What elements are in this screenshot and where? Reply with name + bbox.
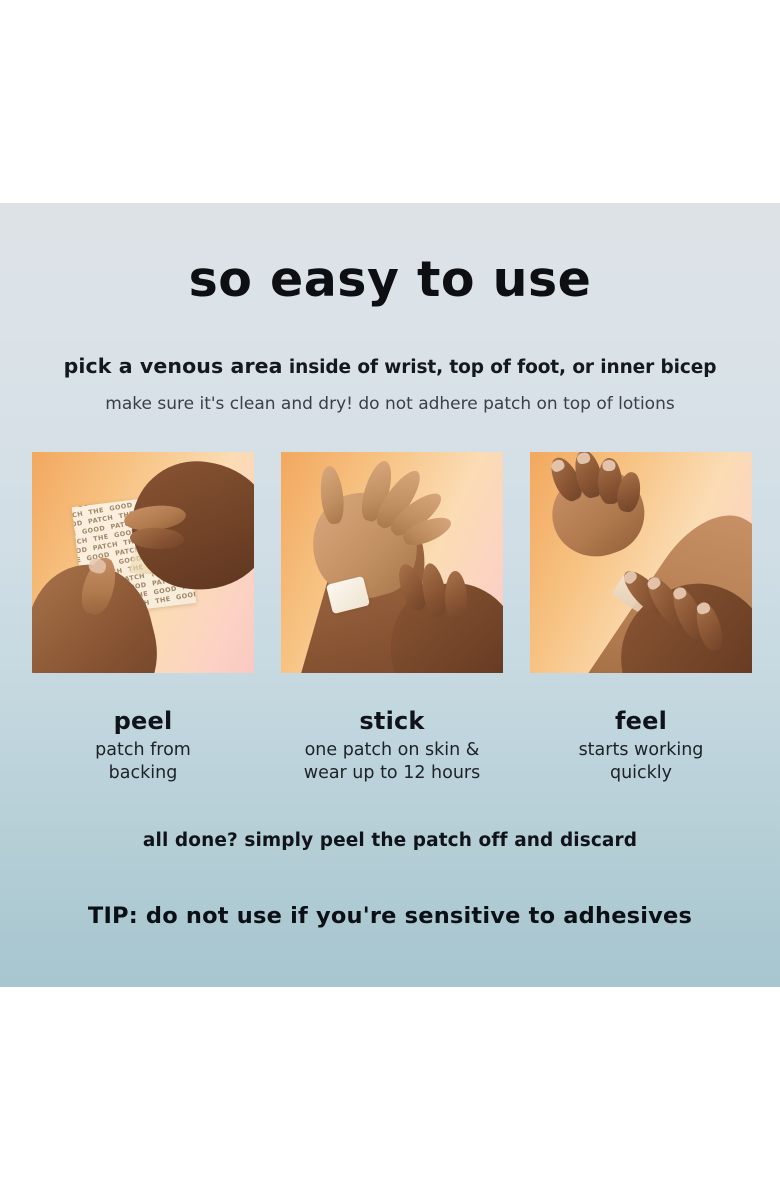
step-feel: feel starts working quickly (530, 708, 752, 785)
fingernail (550, 458, 567, 474)
step-peel-title: peel (32, 708, 254, 735)
fingernail (602, 460, 615, 471)
page-root: so easy to use pick a venous area inside… (0, 0, 780, 1196)
step-photo-row: THE GOOD PATCH THE GOOD PATCH THE GOOD P… (32, 452, 752, 673)
fingernail (576, 452, 591, 465)
step-stick: stick one patch on skin & wear up to 12 … (281, 708, 503, 785)
step-photo-peel: THE GOOD PATCH THE GOOD PATCH THE GOOD P… (32, 452, 254, 673)
how-to-use-graphic: so easy to use pick a venous area inside… (0, 203, 780, 987)
step-stick-desc: one patch on skin & wear up to 12 hours (281, 739, 503, 785)
step-feel-desc: starts working quickly (530, 739, 752, 785)
step-photo-feel (530, 452, 752, 673)
applying-finger-3 (444, 571, 468, 622)
venous-area-detail: inside of wrist, top of foot, or inner b… (283, 357, 717, 378)
venous-area-instruction: pick a venous area inside of wrist, top … (0, 355, 780, 378)
step-peel-desc: patch from backing (32, 739, 254, 785)
page-title: so easy to use (0, 255, 780, 304)
fingernail (622, 569, 639, 586)
step-photo-stick (281, 452, 503, 673)
step-peel: peel patch from backing (32, 708, 254, 785)
venous-area-strong: pick a venous area (64, 354, 283, 378)
step-stick-title: stick (281, 708, 503, 735)
step-feel-title: feel (530, 708, 752, 735)
step-caption-row: peel patch from backing stick one patch … (32, 708, 752, 785)
cleanliness-note: make sure it's clean and dry! do not adh… (0, 395, 780, 414)
adhesive-tip: TIP: do not use if you're sensitive to a… (0, 903, 780, 929)
removal-instruction: all done? simply peel the patch off and … (0, 830, 780, 851)
fingernail (696, 601, 712, 615)
